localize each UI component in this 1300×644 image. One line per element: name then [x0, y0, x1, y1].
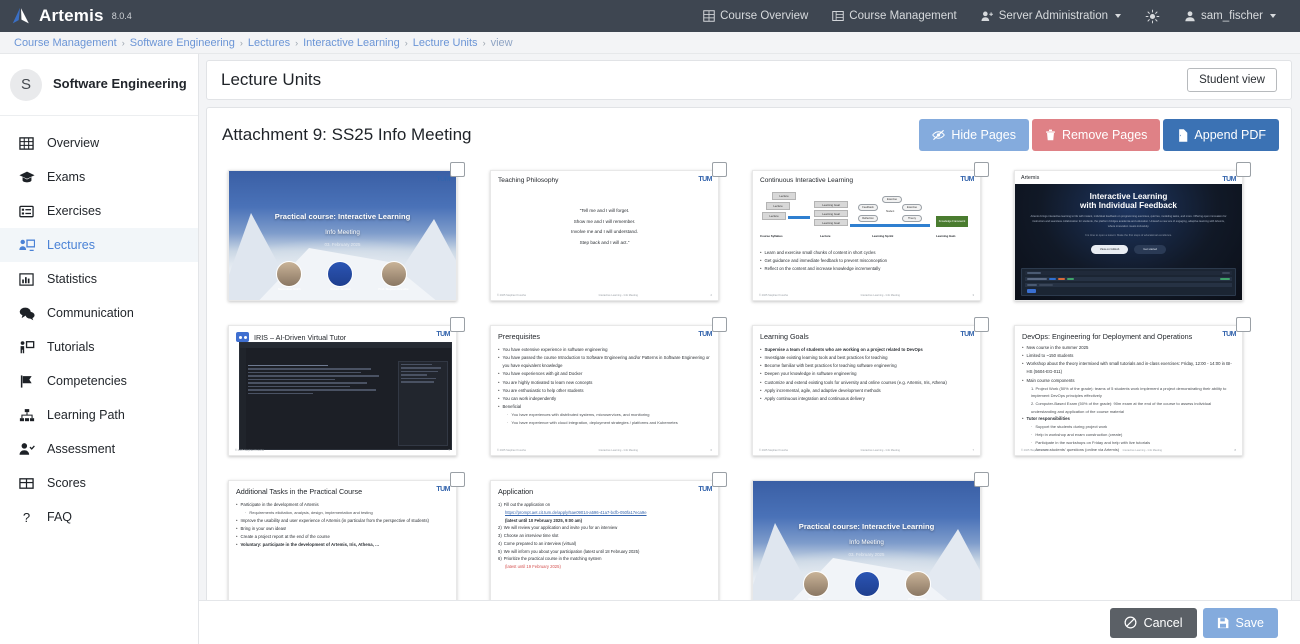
hero-github-button: View on GitHub: [1091, 245, 1128, 254]
diagram-node: Learning Goal: [814, 210, 848, 217]
diagram-arrow: [788, 216, 810, 219]
question-icon: ?: [18, 509, 35, 526]
slide-footer-left: © 2025 Stephan Krusche: [497, 449, 526, 452]
slide-footer-left: © 2025 Stephan Krusche: [497, 294, 526, 297]
tum-logo: TUM: [698, 486, 712, 493]
bullet-text: Limited to ~150 students: [1027, 352, 1074, 360]
bullet-text: Apply incremental, agile, and adaptive d…: [765, 387, 881, 395]
nav-course-overview-label: Course Overview: [720, 10, 808, 22]
bullet-text: You are enthusiastic to help other stude…: [503, 387, 584, 395]
flag-icon: [18, 373, 35, 390]
slide-cell[interactable]: IRIS – AI-Driven Virtual Tutor TUM: [220, 317, 465, 462]
sidebar-item-assessment[interactable]: Assessment: [0, 432, 198, 466]
hero-headline-1: Interactive Learning: [1015, 192, 1242, 201]
sidebar-item-lectures[interactable]: Lectures: [0, 228, 198, 262]
tum-logo: TUM: [436, 176, 450, 183]
diagram-node: Lecture: [772, 192, 796, 200]
diagram-arrow: [850, 224, 930, 227]
remove-pages-label: Remove Pages: [1062, 128, 1147, 142]
bullet-text: Participate in the development of Artemi…: [241, 501, 319, 509]
tum-logo: TUM: [436, 486, 450, 493]
avatar: [905, 571, 931, 597]
breadcrumb: Course Management › Software Engineering…: [0, 32, 1300, 54]
quote-line: Show me and I will remember.: [498, 217, 711, 228]
sidebar-item-label: Exams: [47, 170, 85, 184]
slide-footer: © 2025 Stephan Krusche 5: [235, 449, 450, 452]
slide-footer-center: Interactive Learning - Info Meeting: [1123, 449, 1162, 452]
slide-bullets: •Supervise a team of students who are wo…: [760, 346, 973, 403]
slide-thumbnail[interactable]: TUM Practical course: Interactive Learni…: [228, 170, 457, 301]
chevron-down-icon: [1270, 14, 1276, 18]
file-import-icon: [1176, 129, 1188, 142]
diagram-node: Exercise: [882, 196, 902, 203]
bullet-text: Support the students during project work: [1035, 423, 1107, 431]
step-text: Choose an interview time slot: [504, 532, 559, 540]
slide-footer-page: 2: [711, 294, 712, 297]
sidebar-item-label: Competencies: [47, 374, 127, 388]
chart-bar-icon: [18, 271, 35, 288]
page-title: Lecture Units: [221, 70, 321, 90]
slide-checkbox[interactable]: [450, 162, 465, 177]
brand-version: 8.0.4: [112, 11, 132, 22]
breadcrumb-item-0[interactable]: Course Management: [14, 37, 117, 49]
sidebar-item-statistics[interactable]: Statistics: [0, 262, 198, 296]
avatar-name: Prof. Stephan Krusche: [378, 288, 408, 292]
diagram-node: Feedback: [858, 204, 878, 211]
bullet-text: Apply continuous integration and continu…: [765, 395, 865, 403]
diagram-node: Learning Goal: [814, 219, 848, 226]
slide-thumbnail[interactable]: Learning Goals TUM •Supervise a team of …: [752, 325, 981, 456]
theme-toggle-button[interactable]: [1133, 3, 1172, 30]
bullet-text: Create a project report at the end of th…: [241, 533, 330, 541]
bullet-text: You have experiences with git and Docker: [503, 370, 583, 378]
slide-title: Prerequisites: [498, 332, 711, 341]
slide-footer-left: © 2025 Stephan Krusche: [1021, 449, 1050, 452]
slide-cell[interactable]: Learning Goals TUM •Supervise a team of …: [744, 317, 989, 462]
breadcrumb-item-5: view: [491, 37, 513, 49]
diagram-node: Learning Goal: [814, 201, 848, 208]
step-note: (latest until 10 February 2025, 9:00 am): [505, 517, 582, 525]
slide-title: Teaching Philosophy: [498, 177, 711, 184]
slide-checkbox[interactable]: [974, 162, 989, 177]
slide-footer-page: 5: [449, 449, 450, 452]
diagram-node: Theory: [902, 215, 922, 222]
bullet-text: You have extensive experience in softwar…: [503, 346, 608, 354]
slide-cell[interactable]: Application TUM 1)Fill out the applicati…: [482, 472, 727, 609]
nav-user-menu[interactable]: sam_fischer: [1172, 4, 1288, 28]
bullet-text: Participate in the workshops on Friday a…: [1035, 439, 1150, 447]
avatar: [803, 571, 829, 597]
step-deadline-note: (latest until 19 February 2025): [505, 563, 561, 571]
sidebar-item-label: Assessment: [47, 442, 115, 456]
save-label: Save: [1236, 616, 1265, 630]
slide-thumbnail[interactable]: Additional Tasks in the Practical Course…: [228, 480, 457, 609]
slide-date: 03. February 2025: [753, 552, 980, 557]
slide-title: DevOps: Engineering for Deployment and O…: [1022, 332, 1235, 341]
nav-course-management[interactable]: Course Management: [820, 4, 968, 28]
save-button[interactable]: Save: [1203, 608, 1279, 638]
slide-footer: © 2025 Stephan Krusche Interactive Learn…: [1021, 449, 1236, 452]
bullet-text: Voluntary: participate in the developmen…: [241, 541, 380, 549]
slide-footer: © 2025 Stephan Krusche Interactive Learn…: [497, 294, 712, 297]
slide-thumbnail[interactable]: IRIS – AI-Driven Virtual Tutor TUM: [228, 325, 457, 456]
page-header-card: Lecture Units Student view: [206, 60, 1292, 100]
bullet-text: Workshop about the theory intermixed wit…: [1027, 360, 1235, 376]
sidebar-item-communication[interactable]: Communication: [0, 296, 198, 330]
navbar-right-group: Course Overview Course Management Server…: [691, 3, 1300, 30]
course-header: S Software Engineering: [0, 54, 198, 116]
bullet-text: Get guidance and immediate feedback to p…: [765, 257, 888, 265]
slide-checkbox[interactable]: [450, 317, 465, 332]
slide-footer-left: © 2025 Stephan Krusche: [759, 294, 788, 297]
slide-footer: © 2025 Stephan Krusche Interactive Learn…: [759, 449, 974, 452]
slide-cell[interactable]: Additional Tasks in the Practical Course…: [220, 472, 465, 609]
list-icon: [832, 10, 844, 22]
trash-icon: [1045, 129, 1056, 141]
slide-avatars: Maximilian Sölch Robert Jandow Prof. Ste…: [229, 261, 456, 292]
step-number: 6): [498, 555, 502, 563]
chevron-down-icon: [1115, 14, 1121, 18]
slide-thumbnail[interactable]: Prerequisites TUM •You have extensive ex…: [490, 325, 719, 456]
slide-title: Continuous Interactive Learning: [760, 177, 973, 184]
hero-tagline: It is time to open a lesson: Make the fi…: [1015, 229, 1242, 238]
remove-pages-button[interactable]: Remove Pages: [1032, 119, 1160, 151]
slide-title: Learning Goals: [760, 332, 973, 341]
slide-checkbox[interactable]: [712, 317, 727, 332]
iris-logo-icon: [236, 332, 249, 342]
person-chalkboard-icon: [18, 339, 35, 356]
list-alt-icon: [18, 203, 35, 220]
slide-cell[interactable]: Artemis TUM Interactive Learning with In…: [1006, 162, 1251, 307]
sidebar-item-label: FAQ: [47, 510, 72, 524]
breadcrumb-separator: ›: [295, 38, 298, 48]
lecture-unit-title: Attachment 9: SS25 Info Meeting: [222, 125, 471, 145]
slide-title: IRIS – AI-Driven Virtual Tutor: [254, 333, 346, 342]
avatar: [327, 261, 353, 287]
cancel-button[interactable]: Cancel: [1110, 608, 1197, 638]
slide-subtitle: Info Meeting: [229, 229, 456, 236]
breadcrumb-separator: ›: [122, 38, 125, 48]
bullet-text: Investigate existing learning tools and …: [765, 354, 888, 362]
bullet-text: Reflect on the content and increase know…: [765, 265, 881, 273]
bullet-text: You have experiences with distributed sy…: [511, 411, 649, 419]
sidebar-item-competencies[interactable]: Competencies: [0, 364, 198, 398]
slide-steps: 1)Fill out the application on https://pr…: [498, 501, 711, 571]
slide-title: Additional Tasks in the Practical Course: [236, 487, 449, 496]
sidebar-item-faq[interactable]: ? FAQ: [0, 500, 198, 534]
step-text: We will review your application and invi…: [504, 524, 618, 532]
sidebar-item-scores[interactable]: Scores: [0, 466, 198, 500]
step-number: 2): [498, 524, 502, 532]
slide-avatars: Maximilian Robert Prof. Stephan: [753, 571, 980, 602]
svg-text:?: ?: [23, 510, 30, 525]
bullet-text: Supervise a team of students who are wor…: [765, 346, 923, 354]
avatar-name: Maximilian Sölch: [276, 288, 302, 292]
avatar: [381, 261, 407, 287]
bullet-text: Learn and exercise small chunks of conte…: [765, 249, 876, 257]
comments-icon: [18, 305, 35, 322]
breadcrumb-separator: ›: [240, 38, 243, 48]
hide-pages-button[interactable]: Hide Pages: [919, 119, 1029, 151]
slide-footer-center: Interactive Learning - Info Meeting: [861, 294, 900, 297]
course-sidebar: S Software Engineering Overview Exams: [0, 54, 199, 644]
graduation-cap-icon: [18, 169, 35, 186]
breadcrumb-item-1[interactable]: Software Engineering: [130, 37, 235, 49]
slide-footer-page: 3: [973, 294, 974, 297]
slide-thumbnail[interactable]: Practical course: Interactive Learning I…: [752, 480, 981, 609]
diagram-label: Learning Gain: [936, 234, 955, 238]
sidebar-item-label: Tutorials: [47, 340, 94, 354]
hero-getstarted-button: Get started: [1134, 245, 1166, 254]
sitemap-icon: [18, 407, 35, 424]
slide-footer-page: 8: [1235, 449, 1236, 452]
lecture-unit-header: Attachment 9: SS25 Info Meeting Hide Pag…: [207, 108, 1291, 162]
diagram-label: Course Syllabus: [760, 234, 783, 238]
slide-checkbox[interactable]: [974, 472, 989, 487]
quote-line: Involve me and I will understand.: [498, 227, 711, 238]
slide-quote: “Tell me and I will forget. Show me and …: [498, 206, 711, 248]
table-icon: [18, 475, 35, 492]
slide-footer-left: © 2025 Stephan Krusche: [235, 449, 264, 452]
lecture-unit-actions: Hide Pages Remove Pages: [919, 119, 1279, 151]
avatar: [854, 571, 880, 597]
brand-name: Artemis: [39, 6, 104, 26]
ban-icon: [1124, 616, 1137, 629]
breadcrumb-separator: ›: [483, 38, 486, 48]
bullet-text: 1. Project Work (50% of the grade): team…: [1031, 385, 1235, 400]
slide-footer-center: Interactive Learning - Info Meeting: [599, 294, 638, 297]
breadcrumb-item-3[interactable]: Interactive Learning: [303, 37, 400, 49]
sidebar-item-label: Statistics: [47, 272, 97, 286]
bullet-text: New course in the summer 2025: [1027, 344, 1089, 352]
quote-line: Step back and I will act.”: [498, 238, 711, 249]
sidebar-item-overview[interactable]: Overview: [0, 126, 198, 160]
avatar-name: Robert Jandow: [327, 288, 353, 292]
tum-logo: TUM: [436, 331, 450, 338]
sidebar-item-label: Scores: [47, 476, 86, 490]
nav-username-label: sam_fischer: [1201, 10, 1263, 22]
sidebar-item-label: Learning Path: [47, 408, 125, 422]
sidebar-item-label: Overview: [47, 136, 99, 150]
sidebar-item-label: Lectures: [47, 238, 95, 252]
hero-headline-2: with Individual Feedback: [1015, 201, 1242, 210]
application-link[interactable]: https://prompt.aet.cit.tum.de/apply/5ae0…: [505, 509, 647, 517]
tum-logo: TUM: [698, 176, 712, 183]
tum-logo: TUM: [1222, 331, 1236, 338]
step-text: Come prepared to an interview (virtual): [504, 540, 576, 548]
tum-logo: TUM: [698, 331, 712, 338]
sidebar-nav-list: Overview Exams Exercises Lectures: [0, 116, 198, 534]
slide-thumbnail[interactable]: Application TUM 1)Fill out the applicati…: [490, 480, 719, 609]
nav-course-management-label: Course Management: [849, 10, 956, 22]
quote-line: “Tell me and I will forget.: [498, 206, 711, 217]
nav-server-administration[interactable]: Server Administration: [969, 4, 1133, 28]
step-text: Prioritize the practical course in the m…: [504, 555, 602, 563]
bullet-text: You have passed the course Introduction …: [503, 354, 711, 370]
step-text: Fill out the application on: [504, 501, 550, 509]
slide-checkbox[interactable]: [712, 472, 727, 487]
page-body: S Software Engineering Overview Exams: [0, 54, 1300, 644]
slide-checkbox[interactable]: [1236, 162, 1251, 177]
bullet-text: Help in workshop and exam construction (…: [1035, 431, 1122, 439]
iris-screenshot: [239, 342, 452, 450]
cancel-label: Cancel: [1144, 616, 1183, 630]
student-view-button[interactable]: Student view: [1187, 68, 1277, 92]
artemis-hero: Interactive Learning with Individual Fee…: [1015, 184, 1242, 300]
slide-diagram: Lecture Lecture Lecture Learning Goal Le…: [760, 188, 973, 244]
course-title: Software Engineering: [53, 76, 187, 92]
bullet-text: Tutor responsibilities: [1027, 415, 1070, 423]
slide-cell[interactable]: Teaching Philosophy TUM “Tell me and I w…: [482, 162, 727, 307]
bullet-text: You have experience with cloud integrati…: [511, 419, 677, 427]
diagram-node: Lecture: [766, 202, 790, 210]
diagram-node-student: Student: [886, 210, 894, 213]
step-number: 1): [498, 501, 502, 509]
breadcrumb-separator: ›: [405, 38, 408, 48]
slide-checkbox[interactable]: [712, 162, 727, 177]
bullet-text: You can work independently: [503, 395, 557, 403]
tum-logo: TUM: [960, 176, 974, 183]
bullet-text: Bring in your own ideas!: [241, 525, 287, 533]
artemis-slide-header: Artemis: [1015, 171, 1242, 184]
slide-bullets: •New course in the summer 2025 •Limited …: [1022, 344, 1235, 454]
slide-footer-center: Interactive Learning - Info Meeting: [599, 449, 638, 452]
step-number: 4): [498, 540, 502, 548]
diagram-label: Learning Sprint: [872, 234, 893, 238]
course-avatar: S: [10, 69, 42, 101]
diagram-node: Lecture: [762, 212, 786, 220]
bullet-text: Main course components: [1027, 377, 1075, 385]
slide-footer-left: © 2025 Stephan Krusche: [759, 449, 788, 452]
tum-logo: TUM: [960, 331, 974, 338]
slides-grid: TUM Practical course: Interactive Learni…: [220, 162, 1278, 609]
hero-screenshot: [1021, 268, 1236, 296]
slide-checkbox[interactable]: [974, 317, 989, 332]
slide-footer-page: 6: [711, 449, 712, 452]
sidebar-item-label: Exercises: [47, 204, 101, 218]
floppy-disk-icon: [1217, 617, 1229, 629]
slide-cell[interactable]: Prerequisites TUM •You have extensive ex…: [482, 317, 727, 462]
bullet-text: Deepen your knowledge in software engine…: [765, 370, 857, 378]
bullet-text: 2. Computer-Based Exam (50% of the grade…: [1031, 400, 1235, 415]
breadcrumb-item-4[interactable]: Lecture Units: [413, 37, 478, 49]
brand-logo-group[interactable]: Artemis 8.0.4: [0, 5, 132, 27]
sidebar-item-exercises[interactable]: Exercises: [0, 194, 198, 228]
user-plus-icon: [981, 10, 994, 22]
bullet-text: You are highly motivated to learn new co…: [503, 379, 593, 387]
sun-icon: [1145, 9, 1160, 24]
action-footer: Cancel Save: [199, 600, 1300, 644]
slide-footer: © 2025 Stephan Krusche Interactive Learn…: [759, 294, 974, 297]
nav-server-administration-label: Server Administration: [999, 10, 1108, 22]
nav-course-overview[interactable]: Course Overview: [691, 4, 820, 28]
sidebar-item-exams[interactable]: Exams: [0, 160, 198, 194]
main-content: Lecture Units Student view Attachment 9:…: [199, 54, 1300, 644]
slide-thumbnail[interactable]: DevOps: Engineering for Deployment and O…: [1014, 325, 1243, 456]
slide-bullets: •Participate in the development of Artem…: [236, 501, 449, 549]
slide-date: 03. February 2025: [229, 242, 456, 247]
grid-icon: [18, 135, 35, 152]
slide-footer-page: 7: [973, 449, 974, 452]
tum-logo: TUM: [1222, 176, 1236, 183]
slide-thumbnail[interactable]: Artemis TUM Interactive Learning with In…: [1014, 170, 1243, 301]
diagram-node: Knowledge Framework: [936, 216, 968, 227]
sidebar-item-label: Communication: [47, 306, 134, 320]
slide-checkbox[interactable]: [450, 472, 465, 487]
sidebar-item-tutorials[interactable]: Tutorials: [0, 330, 198, 364]
artemis-logo-icon: [10, 5, 32, 27]
slide-title: Practical course: Interactive Learning: [229, 212, 456, 221]
bullet-text: Become familiar with best practices for …: [765, 362, 897, 370]
sidebar-item-learning-path[interactable]: Learning Path: [0, 398, 198, 432]
slide-cell[interactable]: Practical course: Interactive Learning I…: [744, 472, 989, 609]
hide-pages-label: Hide Pages: [951, 128, 1016, 142]
bullet-text: Requirements elicitation, analysis, desi…: [249, 509, 372, 517]
slide-cell[interactable]: DevOps: Engineering for Deployment and O…: [1006, 317, 1251, 462]
step-number: 5): [498, 548, 502, 556]
iris-slide-header: IRIS – AI-Driven Virtual Tutor: [236, 332, 449, 342]
slide-cell[interactable]: Continuous Interactive Learning TUM Lect…: [744, 162, 989, 307]
append-pdf-button[interactable]: Append PDF: [1163, 119, 1279, 151]
diagram-node: Reflection: [858, 215, 878, 222]
slide-title: Practical course: Interactive Learning: [753, 522, 980, 531]
step-text: We will inform you about your participat…: [504, 548, 640, 556]
slide-title: Application: [498, 487, 711, 496]
slide-thumbnail[interactable]: Teaching Philosophy TUM “Tell me and I w…: [490, 170, 719, 301]
slide-checkbox[interactable]: [1236, 317, 1251, 332]
artemis-brand: Artemis: [1021, 175, 1039, 181]
hero-buttons: View on GitHub Get started: [1015, 245, 1242, 254]
breadcrumb-item-2[interactable]: Lectures: [248, 37, 290, 49]
hero-paragraph: Artemis brings interactive learning to l…: [1015, 210, 1242, 229]
slides-scroll-area[interactable]: TUM Practical course: Interactive Learni…: [207, 162, 1291, 609]
append-pdf-label: Append PDF: [1194, 128, 1266, 142]
bullet-text: Beneficial: [503, 403, 522, 411]
bullet-text: Improve the usability and user experienc…: [241, 517, 429, 525]
slide-bullets: •You have extensive experience in softwa…: [498, 346, 711, 426]
user-icon: [1184, 10, 1196, 22]
diagram-node: Exercise: [902, 204, 922, 211]
chalkboard-user-icon: [18, 237, 35, 254]
slide-thumbnail[interactable]: Continuous Interactive Learning TUM Lect…: [752, 170, 981, 301]
top-navbar: Artemis 8.0.4 Course Overview Course Man…: [0, 0, 1300, 32]
slide-footer-center: Interactive Learning - Info Meeting: [861, 449, 900, 452]
slide-subtitle: Info Meeting: [753, 539, 980, 546]
avatar: [276, 261, 302, 287]
bullet-text: Customize and extend existing tools for …: [765, 379, 947, 387]
slide-bullets: •Learn and exercise small chunks of cont…: [760, 249, 973, 273]
eye-slash-icon: [932, 129, 945, 141]
user-check-icon: [18, 441, 35, 458]
diagram-label: Lecture: [820, 234, 830, 238]
slide-footer: © 2025 Stephan Krusche Interactive Learn…: [497, 449, 712, 452]
step-number: 3): [498, 532, 502, 540]
slide-cell[interactable]: TUM Practical course: Interactive Learni…: [220, 162, 465, 307]
grid-icon: [703, 10, 715, 22]
lecture-unit-card: Attachment 9: SS25 Info Meeting Hide Pag…: [206, 107, 1292, 610]
